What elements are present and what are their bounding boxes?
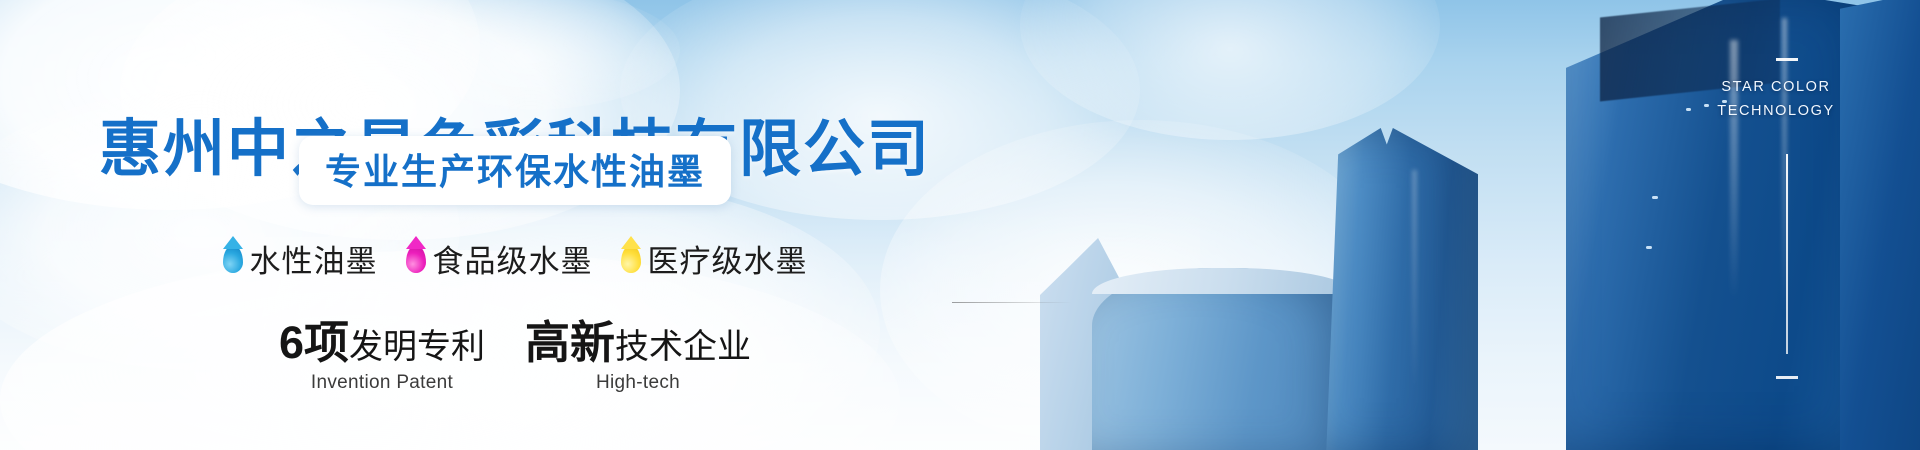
credential-en: Invention Patent	[279, 372, 485, 394]
water-drop-icon	[621, 245, 641, 273]
city-brand-line-2: TECHNOLOGY	[1676, 100, 1876, 124]
accent-vertical-line	[1786, 154, 1788, 354]
feature-item: 医疗级水墨	[621, 236, 808, 281]
credential-en: High-tech	[525, 372, 751, 394]
credential-cn: 高新技术企业	[525, 318, 751, 368]
credential-item: 高新技术企业 High-tech	[525, 318, 751, 394]
building-center-tower	[1326, 128, 1478, 450]
subtitle-container: 专业生产环保水性油墨	[0, 136, 1030, 205]
divider	[952, 302, 1072, 303]
accent-tick-bottom	[1776, 376, 1798, 379]
water-drop-icon	[406, 245, 426, 273]
feature-item: 水性油墨	[223, 236, 378, 281]
feature-list: 水性油墨 食品级水墨 医疗级水墨	[0, 236, 1030, 281]
glass-highlight	[1412, 170, 1417, 390]
window-light-dot	[1646, 246, 1652, 249]
window-light-dot	[1652, 196, 1658, 199]
banner-content: 惠州中之星色彩科技有限公司 专业生产环保水性油墨 水性油墨 食品级水墨 医疗级水…	[0, 0, 1180, 450]
credential-cn-light: 发明专利	[349, 328, 485, 366]
city-brand-line-1: STAR COLOR	[1676, 76, 1876, 100]
feature-item: 食品级水墨	[406, 236, 593, 281]
water-drop-icon	[223, 245, 243, 273]
credential-cn-strong: 高新	[525, 317, 615, 368]
building-far-right	[1840, 0, 1920, 450]
hero-banner: Star Color STAR COLOR TECHNOLOGY 惠州中之星色彩…	[0, 0, 1920, 450]
feature-label: 医疗级水墨	[648, 236, 808, 281]
credential-cn-strong: 6项	[279, 317, 349, 368]
accent-tick-top	[1776, 58, 1798, 61]
credential-item: 6项发明专利 Invention Patent	[279, 318, 485, 394]
feature-label: 食品级水墨	[433, 236, 593, 281]
credential-cn-light: 技术企业	[615, 328, 751, 366]
city-brand-text: STAR COLOR TECHNOLOGY	[1676, 76, 1876, 124]
credential-list: 6项发明专利 Invention Patent 高新技术企业 High-tech	[0, 318, 1030, 394]
subtitle-badge: 专业生产环保水性油墨	[299, 136, 731, 205]
feature-label: 水性油墨	[250, 236, 378, 281]
credential-cn: 6项发明专利	[279, 318, 485, 368]
